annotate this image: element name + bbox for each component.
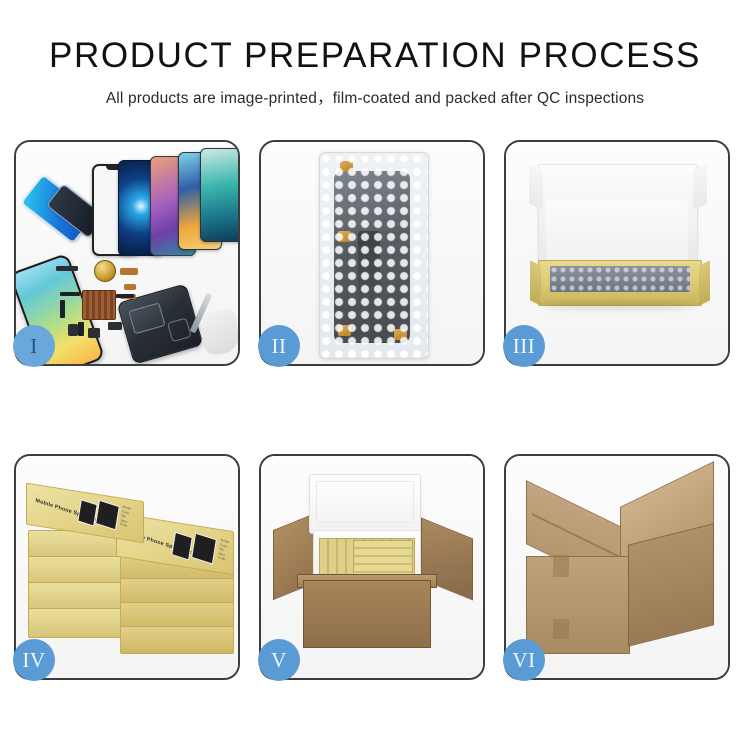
box-artwork-swatch bbox=[95, 500, 120, 531]
step-badge-6: VI bbox=[503, 639, 545, 681]
step-badge-3: III bbox=[503, 325, 545, 367]
step-badge-1: I bbox=[13, 325, 55, 367]
step-panel-1: I bbox=[14, 140, 240, 366]
technician-hand bbox=[199, 308, 238, 357]
speaker-coil-part bbox=[94, 260, 116, 282]
step-panel-2: II bbox=[259, 140, 485, 366]
sealed-carton bbox=[520, 472, 716, 662]
bubble-wrapped-contents bbox=[550, 266, 690, 292]
chip-part bbox=[56, 266, 78, 271]
circuit-board-part bbox=[82, 290, 116, 320]
process-steps-grid: I II bbox=[14, 140, 736, 680]
page-title: PRODUCT PREPARATION PROCESS bbox=[0, 0, 750, 75]
box-shadow bbox=[542, 302, 696, 310]
carton-tape bbox=[553, 619, 569, 639]
bubble-wrap-bag bbox=[319, 152, 429, 359]
header: PRODUCT PREPARATION PROCESS All products… bbox=[0, 0, 750, 108]
step-badge-4: IV bbox=[13, 639, 55, 681]
phone-screen-teal bbox=[200, 148, 238, 242]
carton-tape bbox=[553, 555, 569, 577]
carton-side bbox=[628, 523, 714, 646]
tape-tab bbox=[338, 231, 351, 242]
box-stack: Mobile Phone Spare Parts Model Color Qty… bbox=[24, 470, 234, 666]
carton-body bbox=[303, 580, 431, 648]
connector-part bbox=[116, 294, 134, 298]
step-panel-5: V bbox=[259, 454, 485, 680]
step-panel-6: VI bbox=[504, 454, 730, 680]
chip-part bbox=[88, 328, 100, 338]
tape-tab bbox=[340, 161, 353, 172]
carton-front bbox=[526, 556, 630, 654]
step-badge-5: V bbox=[258, 639, 300, 681]
tape-tab bbox=[394, 329, 407, 340]
box-artwork-swatch bbox=[171, 532, 193, 561]
box-artwork-swatch bbox=[191, 533, 217, 565]
stacked-box bbox=[120, 626, 234, 654]
flex-cable-part bbox=[124, 284, 136, 290]
connector-part bbox=[60, 292, 80, 296]
connector-part bbox=[60, 300, 65, 318]
chip-part bbox=[108, 322, 122, 330]
box-spec-text: Model Color Qty Spec Code bbox=[119, 504, 131, 529]
step-badge-2: II bbox=[258, 325, 300, 367]
tape-tab bbox=[338, 325, 351, 336]
chip-part bbox=[68, 324, 78, 336]
connector-part bbox=[78, 322, 84, 336]
page-subtitle: All products are image-printed，film-coat… bbox=[0, 75, 750, 108]
product-preparation-infographic: PRODUCT PREPARATION PROCESS All products… bbox=[0, 0, 750, 750]
step-panel-4: Mobile Phone Spare Parts Model Color Qty… bbox=[14, 454, 240, 680]
foam-box-lid bbox=[309, 474, 421, 534]
step-panel-3: III bbox=[504, 140, 730, 366]
box-spec-text: Model Color Qty Spec Code bbox=[217, 538, 229, 563]
wrapped-part bbox=[334, 171, 410, 343]
flex-cable-part bbox=[120, 268, 138, 275]
phone-lineup bbox=[40, 154, 230, 259]
